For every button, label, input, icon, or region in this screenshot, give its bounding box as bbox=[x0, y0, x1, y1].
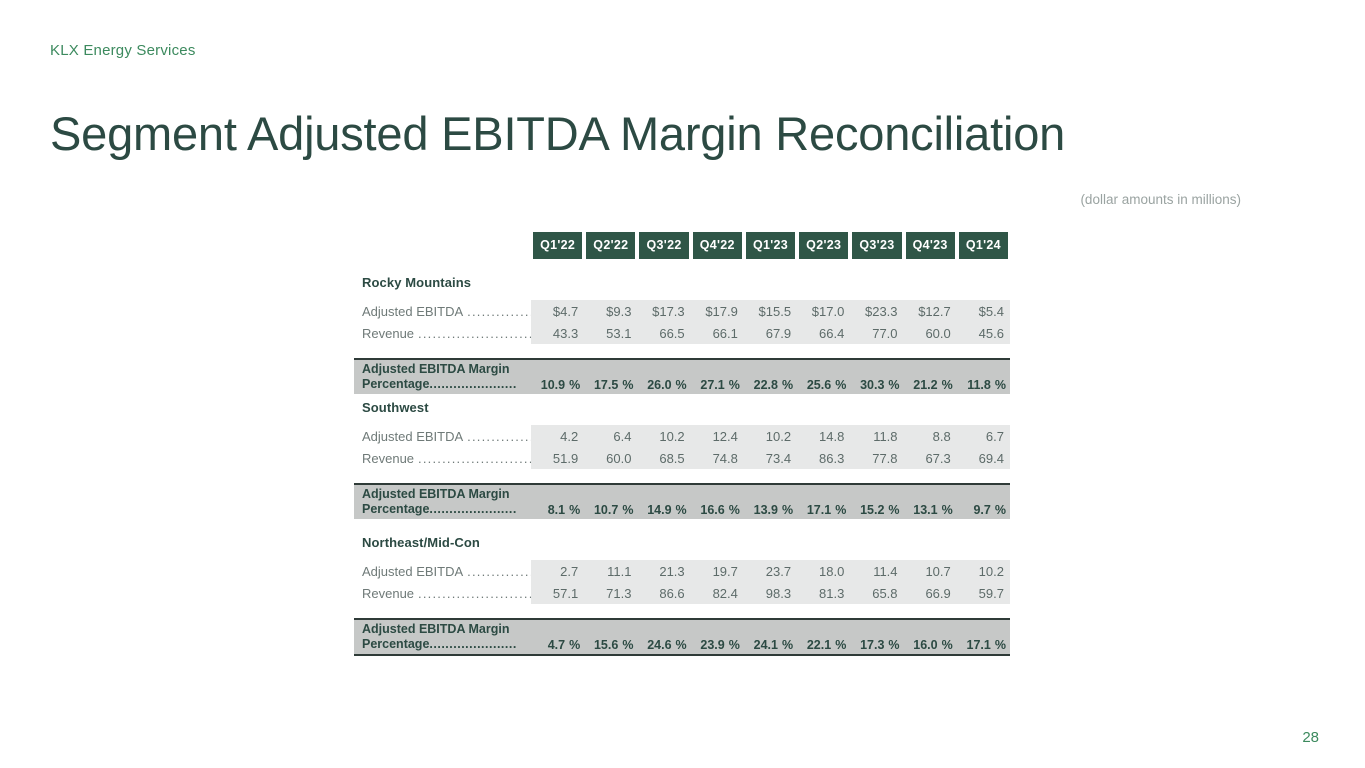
cell-value: 43.3 bbox=[531, 326, 584, 341]
cell-value-percent: 22.8% bbox=[744, 378, 797, 392]
percent-sign: % bbox=[782, 378, 793, 392]
cell-value-percent: 16.6% bbox=[691, 503, 744, 517]
percent-sign: % bbox=[942, 503, 953, 517]
table-row-revenue: Revenue .......................... 51.9 … bbox=[354, 447, 1010, 469]
cell-value: 57.1 bbox=[531, 586, 584, 601]
row-label: Revenue bbox=[362, 326, 414, 341]
row-label-cell: Revenue .......................... bbox=[354, 326, 531, 341]
cell-value: 10.2 bbox=[744, 429, 797, 444]
cell-value-percent: 17.1% bbox=[797, 503, 850, 517]
cell-value: 86.3 bbox=[797, 451, 850, 466]
row-label-cell: Revenue .......................... bbox=[354, 586, 531, 601]
percent-sign: % bbox=[729, 638, 740, 652]
column-header-q2-22: Q2'22 bbox=[586, 232, 635, 259]
cell-value: 18.0 bbox=[797, 564, 850, 579]
cell-value: 10.7 bbox=[904, 564, 957, 579]
table-row-adjusted-ebitda: Adjusted EBITDA .............. $4.7 $9.3… bbox=[354, 300, 1010, 322]
cell-value-percent: 21.2% bbox=[904, 378, 957, 392]
leader-dots: ...................... bbox=[429, 637, 531, 652]
percent-sign: % bbox=[622, 378, 633, 392]
cell-value: 51.9 bbox=[531, 451, 584, 466]
table-row-adjusted-ebitda: Adjusted EBITDA .............. 2.7 11.1 … bbox=[354, 560, 1010, 582]
cell-value: 77.0 bbox=[850, 326, 903, 341]
percent-sign: % bbox=[729, 378, 740, 392]
margin-band-southwest: Adjusted EBITDA Margin Percentage ......… bbox=[354, 483, 1010, 519]
section-heading-southwest: Southwest bbox=[354, 400, 1010, 415]
row-label-line2: Percentage bbox=[362, 502, 429, 517]
cell-value-percent: 30.3% bbox=[850, 378, 903, 392]
cell-value: 74.8 bbox=[691, 451, 744, 466]
row-label-line2-wrap: Percentage ...................... bbox=[362, 502, 531, 517]
cell-value: 23.7 bbox=[744, 564, 797, 579]
section-data-band-northeast-midcon: Adjusted EBITDA .............. 2.7 11.1 … bbox=[354, 560, 1010, 604]
row-label: Revenue bbox=[362, 586, 414, 601]
table-row-adjusted-ebitda: Adjusted EBITDA .............. 4.2 6.4 1… bbox=[354, 425, 1010, 447]
cell-value-percent: 15.6% bbox=[584, 638, 637, 652]
percent-sign: % bbox=[835, 638, 846, 652]
cell-value: 66.5 bbox=[637, 326, 690, 341]
page-number: 28 bbox=[1302, 729, 1319, 746]
leader-dots: .............. bbox=[467, 564, 531, 579]
column-header-q4-22: Q4'22 bbox=[693, 232, 742, 259]
cell-value-percent: 8.1% bbox=[531, 503, 584, 517]
cell-value-percent: 25.6% bbox=[797, 378, 850, 392]
section-heading-rocky-mountains: Rocky Mountains bbox=[354, 275, 1010, 290]
cell-value: $12.7 bbox=[904, 304, 957, 319]
row-label: Adjusted EBITDA bbox=[362, 564, 463, 579]
row-label-cell: Adjusted EBITDA .............. bbox=[354, 304, 531, 319]
cell-value: 66.4 bbox=[797, 326, 850, 341]
cell-value: 14.8 bbox=[797, 429, 850, 444]
cell-value: 53.1 bbox=[584, 326, 637, 341]
cell-value: $17.3 bbox=[637, 304, 690, 319]
cell-value: 10.2 bbox=[637, 429, 690, 444]
cell-value: 81.3 bbox=[797, 586, 850, 601]
column-header-q3-23: Q3'23 bbox=[852, 232, 901, 259]
column-header-q3-22: Q3'22 bbox=[639, 232, 688, 259]
percent-sign: % bbox=[888, 638, 899, 652]
percent-sign: % bbox=[569, 638, 580, 652]
cell-value-percent: 17.5% bbox=[584, 378, 637, 392]
cell-value-percent: 23.9% bbox=[691, 638, 744, 652]
percent-sign: % bbox=[676, 503, 687, 517]
leader-dots: .............. bbox=[467, 429, 531, 444]
column-header-q1-24: Q1'24 bbox=[959, 232, 1008, 259]
cell-value: 66.1 bbox=[691, 326, 744, 341]
cell-value: 60.0 bbox=[584, 451, 637, 466]
table-row-margin-percentage: Adjusted EBITDA Margin Percentage ......… bbox=[354, 487, 1010, 517]
cell-value: 8.8 bbox=[904, 429, 957, 444]
cell-value: 45.6 bbox=[957, 326, 1010, 341]
table-row-margin-percentage: Adjusted EBITDA Margin Percentage ......… bbox=[354, 362, 1010, 392]
cell-value: 6.7 bbox=[957, 429, 1010, 444]
column-header-cell: Q2'23 bbox=[797, 232, 850, 259]
cell-value: 11.4 bbox=[850, 564, 903, 579]
cell-value-percent: 13.9% bbox=[744, 503, 797, 517]
cell-value: 69.4 bbox=[957, 451, 1010, 466]
leader-dots: .......................... bbox=[418, 326, 531, 341]
cell-value-percent: 27.1% bbox=[691, 378, 744, 392]
table-row-revenue: Revenue .......................... 43.3 … bbox=[354, 322, 1010, 344]
cell-value: $17.0 bbox=[797, 304, 850, 319]
column-header-cell: Q2'22 bbox=[584, 232, 637, 259]
row-label-line2: Percentage bbox=[362, 637, 429, 652]
column-header-cell: Q1'22 bbox=[531, 232, 584, 259]
table-header-row: Q1'22 Q2'22 Q3'22 Q4'22 Q1'23 Q2'23 Q3'2… bbox=[354, 232, 1010, 259]
percent-sign: % bbox=[995, 638, 1006, 652]
row-label-line1: Adjusted EBITDA Margin bbox=[362, 487, 531, 502]
row-label-line2-wrap: Percentage ...................... bbox=[362, 377, 531, 392]
cell-value: 86.6 bbox=[637, 586, 690, 601]
row-label: Revenue bbox=[362, 451, 414, 466]
percent-sign: % bbox=[729, 503, 740, 517]
cell-value-percent: 26.0% bbox=[637, 378, 690, 392]
cell-value: 21.3 bbox=[637, 564, 690, 579]
column-header-q2-23: Q2'23 bbox=[799, 232, 848, 259]
segment-margin-table: Q1'22 Q2'22 Q3'22 Q4'22 Q1'23 Q2'23 Q3'2… bbox=[354, 232, 1010, 656]
cell-value: 73.4 bbox=[744, 451, 797, 466]
percent-sign: % bbox=[676, 378, 687, 392]
column-header-cell: Q3'22 bbox=[637, 232, 690, 259]
cell-value: $23.3 bbox=[850, 304, 903, 319]
percent-sign: % bbox=[569, 378, 580, 392]
cell-value: $9.3 bbox=[584, 304, 637, 319]
units-note: (dollar amounts in millions) bbox=[1080, 192, 1241, 207]
percent-sign: % bbox=[622, 638, 633, 652]
table-row-revenue: Revenue .......................... 57.1 … bbox=[354, 582, 1010, 604]
cell-value-percent: 22.1% bbox=[797, 638, 850, 652]
cell-value: 11.8 bbox=[850, 429, 903, 444]
cell-value: $5.4 bbox=[957, 304, 1010, 319]
cell-value-percent: 24.6% bbox=[637, 638, 690, 652]
margin-band-rocky-mountains: Adjusted EBITDA Margin Percentage ......… bbox=[354, 358, 1010, 394]
cell-value: 66.9 bbox=[904, 586, 957, 601]
percent-sign: % bbox=[888, 378, 899, 392]
section-data-band-rocky-mountains: Adjusted EBITDA .............. $4.7 $9.3… bbox=[354, 300, 1010, 344]
row-label-line1: Adjusted EBITDA Margin bbox=[362, 362, 531, 377]
percent-sign: % bbox=[835, 503, 846, 517]
percent-sign: % bbox=[888, 503, 899, 517]
row-label-cell: Revenue .......................... bbox=[354, 451, 531, 466]
margin-band-northeast-midcon: Adjusted EBITDA Margin Percentage ......… bbox=[354, 618, 1010, 656]
cell-value: 71.3 bbox=[584, 586, 637, 601]
cell-value: 11.1 bbox=[584, 564, 637, 579]
cell-value-percent: 10.9% bbox=[531, 378, 584, 392]
cell-value: 65.8 bbox=[850, 586, 903, 601]
leader-dots: .............. bbox=[467, 304, 531, 319]
page-title: Segment Adjusted EBITDA Margin Reconcili… bbox=[50, 106, 1065, 161]
cell-value-percent: 13.1% bbox=[904, 503, 957, 517]
percent-sign: % bbox=[942, 638, 953, 652]
leader-dots: .......................... bbox=[418, 586, 531, 601]
column-header-q4-23: Q4'23 bbox=[906, 232, 955, 259]
cell-value: 19.7 bbox=[691, 564, 744, 579]
percent-sign: % bbox=[782, 638, 793, 652]
cell-value-percent: 17.1% bbox=[957, 638, 1010, 652]
column-header-q1-23: Q1'23 bbox=[746, 232, 795, 259]
row-label-line2: Percentage bbox=[362, 377, 429, 392]
percent-sign: % bbox=[622, 503, 633, 517]
row-label-cell: Adjusted EBITDA Margin Percentage ......… bbox=[354, 622, 531, 652]
column-header-cell: Q1'24 bbox=[957, 232, 1010, 259]
cell-value: 10.2 bbox=[957, 564, 1010, 579]
table-row-margin-percentage: Adjusted EBITDA Margin Percentage ......… bbox=[354, 622, 1010, 652]
row-label-line1: Adjusted EBITDA Margin bbox=[362, 622, 531, 637]
cell-value: 4.2 bbox=[531, 429, 584, 444]
cell-value: 68.5 bbox=[637, 451, 690, 466]
column-header-cell: Q4'22 bbox=[691, 232, 744, 259]
row-label-line2-wrap: Percentage ...................... bbox=[362, 637, 531, 652]
percent-sign: % bbox=[995, 503, 1006, 517]
cell-value: 2.7 bbox=[531, 564, 584, 579]
cell-value: 82.4 bbox=[691, 586, 744, 601]
percent-sign: % bbox=[676, 638, 687, 652]
cell-value-percent: 24.1% bbox=[744, 638, 797, 652]
cell-value: 67.9 bbox=[744, 326, 797, 341]
percent-sign: % bbox=[569, 503, 580, 517]
percent-sign: % bbox=[942, 378, 953, 392]
cell-value-percent: 14.9% bbox=[637, 503, 690, 517]
cell-value-percent: 15.2% bbox=[850, 503, 903, 517]
row-label-cell: Adjusted EBITDA .............. bbox=[354, 429, 531, 444]
section-heading-northeast-midcon: Northeast/Mid-Con bbox=[354, 535, 1010, 550]
row-label-cell: Adjusted EBITDA Margin Percentage ......… bbox=[354, 487, 531, 517]
percent-sign: % bbox=[835, 378, 846, 392]
cell-value-percent: 9.7% bbox=[957, 503, 1010, 517]
row-label-cell: Adjusted EBITDA Margin Percentage ......… bbox=[354, 362, 531, 392]
column-header-cell: Q1'23 bbox=[744, 232, 797, 259]
cell-value: 98.3 bbox=[744, 586, 797, 601]
cell-value: 12.4 bbox=[691, 429, 744, 444]
cell-value-percent: 17.3% bbox=[850, 638, 903, 652]
leader-dots: ...................... bbox=[429, 502, 531, 517]
cell-value: $4.7 bbox=[531, 304, 584, 319]
leader-dots: ...................... bbox=[429, 377, 531, 392]
column-header-q1-22: Q1'22 bbox=[533, 232, 582, 259]
cell-value: 77.8 bbox=[850, 451, 903, 466]
cell-value: $17.9 bbox=[691, 304, 744, 319]
leader-dots: .......................... bbox=[418, 451, 531, 466]
row-label: Adjusted EBITDA bbox=[362, 304, 463, 319]
percent-sign: % bbox=[782, 503, 793, 517]
column-header-cell: Q3'23 bbox=[850, 232, 903, 259]
cell-value-percent: 11.8% bbox=[957, 378, 1010, 392]
cell-value-percent: 4.7% bbox=[531, 638, 584, 652]
cell-value-percent: 10.7% bbox=[584, 503, 637, 517]
cell-value: 67.3 bbox=[904, 451, 957, 466]
header-label-spacer bbox=[354, 232, 531, 259]
cell-value: $15.5 bbox=[744, 304, 797, 319]
cell-value: 59.7 bbox=[957, 586, 1010, 601]
row-label: Adjusted EBITDA bbox=[362, 429, 463, 444]
cell-value: 6.4 bbox=[584, 429, 637, 444]
row-label-cell: Adjusted EBITDA .............. bbox=[354, 564, 531, 579]
column-header-cell: Q4'23 bbox=[904, 232, 957, 259]
brand-eyebrow: KLX Energy Services bbox=[50, 42, 196, 59]
percent-sign: % bbox=[995, 378, 1006, 392]
cell-value-percent: 16.0% bbox=[904, 638, 957, 652]
cell-value: 60.0 bbox=[904, 326, 957, 341]
section-data-band-southwest: Adjusted EBITDA .............. 4.2 6.4 1… bbox=[354, 425, 1010, 469]
